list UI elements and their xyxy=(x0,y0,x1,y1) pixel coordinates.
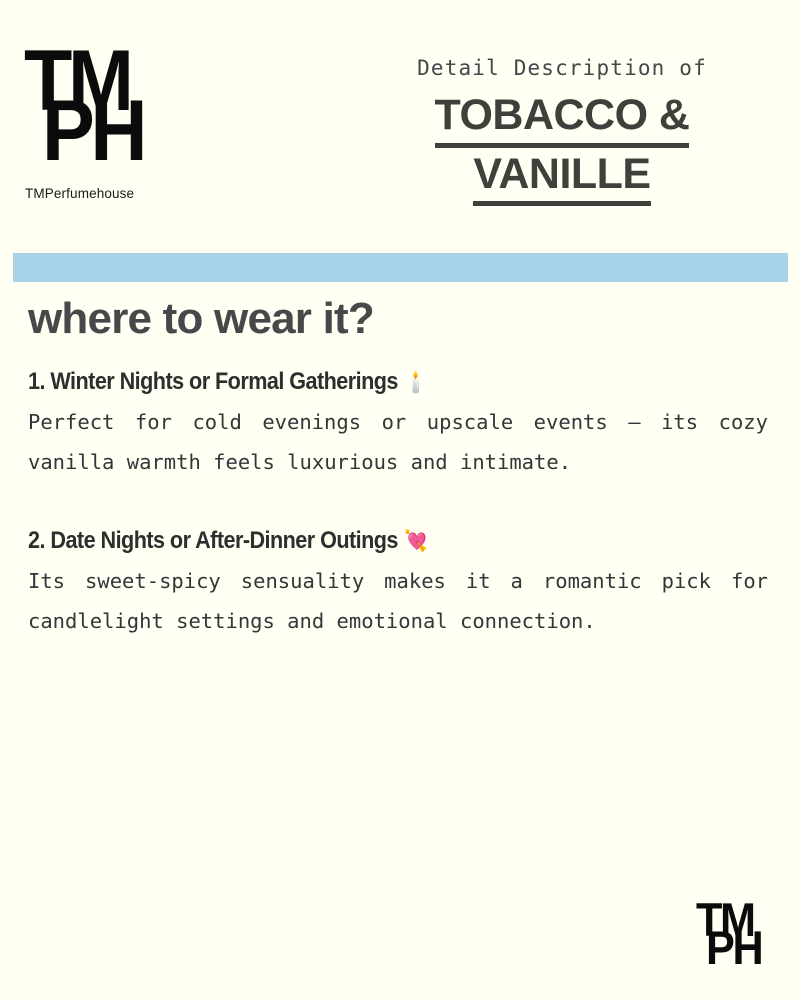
eyebrow-text: Detail Description of xyxy=(352,56,772,81)
heart-with-arrow-emoji: 💘 xyxy=(404,529,428,553)
poster-page: TM PH TMPerfumehouse Detail Description … xyxy=(0,0,800,1000)
logo-text-ph: PH xyxy=(42,98,143,165)
page-title-line-2-text: VANILLE xyxy=(473,148,650,206)
title-block: Detail Description of TOBACCO & VANILLE xyxy=(352,56,772,206)
item-heading-text: 1. Winter Nights or Formal Gatherings xyxy=(28,368,398,395)
brand-name: TMPerfumehouse xyxy=(25,186,134,201)
item-heading: 1. Winter Nights or Formal Gatherings🕯️ xyxy=(28,368,694,396)
page-title: TOBACCO & VANILLE xyxy=(352,89,772,206)
section-title: where to wear it? xyxy=(28,296,768,342)
item-heading: 2. Date Nights or After-Dinner Outings💘 xyxy=(28,527,694,555)
footer-logo: TM PH xyxy=(696,902,772,980)
page-title-line-1-text: TOBACCO & xyxy=(435,89,690,147)
brand-logo: TM PH TMPerfumehouse xyxy=(24,48,184,178)
header: TM PH TMPerfumehouse Detail Description … xyxy=(0,0,800,240)
logo-mark: TM PH xyxy=(24,48,142,178)
item-heading-text: 2. Date Nights or After-Dinner Outings xyxy=(28,527,398,554)
main-content: where to wear it? 1. Winter Nights or Fo… xyxy=(28,296,768,642)
page-title-line-1: TOBACCO & xyxy=(352,89,772,147)
accent-divider-bar xyxy=(13,253,788,282)
candle-emoji: 🕯️ xyxy=(404,370,428,394)
item-body: Its sweet-spicy sensuality makes it a ro… xyxy=(28,561,768,642)
page-title-line-2: VANILLE xyxy=(352,148,772,206)
footer-logo-text-ph: PH xyxy=(706,930,761,967)
item-body: Perfect for cold evenings or upscale eve… xyxy=(28,402,768,483)
list-item: 2. Date Nights or After-Dinner Outings💘 … xyxy=(28,527,768,642)
list-item: 1. Winter Nights or Formal Gatherings🕯️ … xyxy=(28,368,768,483)
